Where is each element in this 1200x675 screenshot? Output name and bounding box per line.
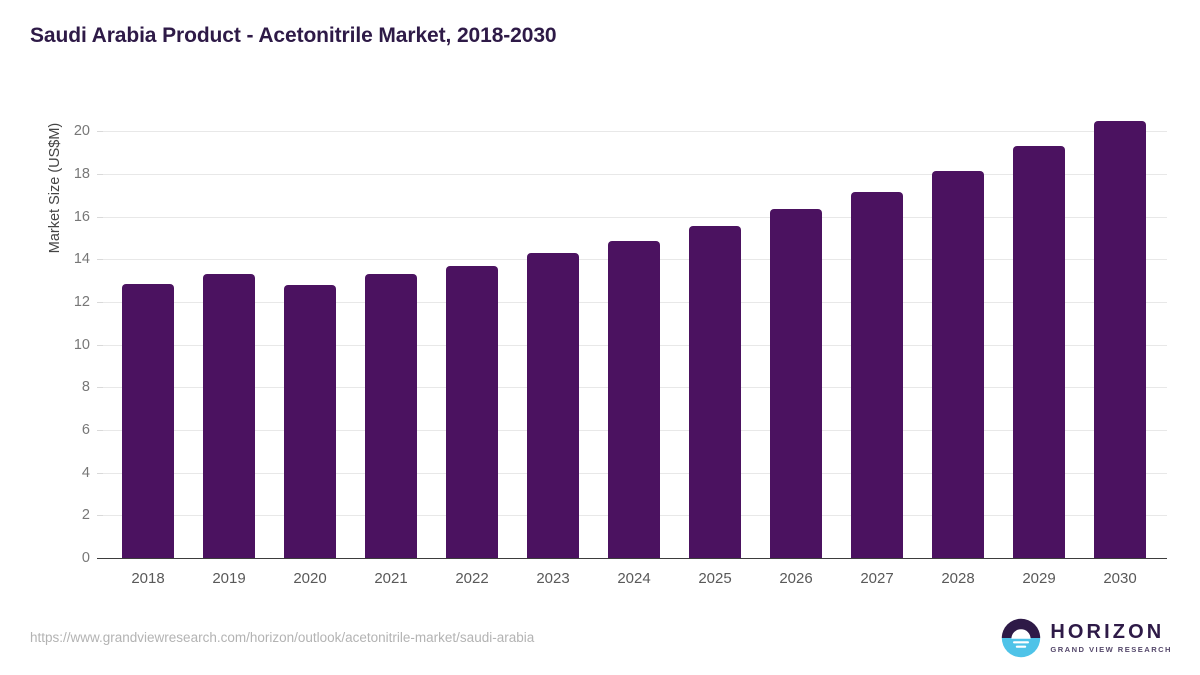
x-tick-label: 2025 (675, 570, 755, 587)
bar[interactable] (122, 284, 174, 558)
bar[interactable] (1094, 121, 1146, 558)
x-tick-label: 2022 (432, 570, 512, 587)
y-tick-label: 2 (82, 507, 90, 523)
logo-word: HORIZON (1050, 622, 1172, 642)
x-tick-label: 2024 (594, 570, 674, 587)
bar[interactable] (932, 171, 984, 558)
y-tick-label: 0 (82, 550, 90, 566)
bar[interactable] (365, 274, 417, 558)
x-tick-label: 2028 (918, 570, 998, 587)
bar[interactable] (446, 266, 498, 558)
y-tick-label: 10 (74, 337, 90, 353)
bar[interactable] (689, 226, 741, 558)
bar[interactable] (203, 274, 255, 558)
y-axis-title: Market Size (US$M) (47, 73, 63, 303)
logo-wordmark: HORIZON GRAND VIEW RESEARCH (1050, 622, 1172, 654)
chart-page: Saudi Arabia Product - Acetonitrile Mark… (0, 0, 1200, 675)
x-tick-label: 2020 (270, 570, 350, 587)
x-tick-label: 2029 (999, 570, 1079, 587)
bar[interactable] (770, 209, 822, 558)
logo-subtitle: GRAND VIEW RESEARCH (1050, 646, 1172, 654)
horizon-sunrise-icon (1001, 618, 1041, 658)
bar[interactable] (527, 253, 579, 558)
bar-series: 2018201920202021202220232024202520262027… (103, 110, 1167, 558)
x-axis-line (103, 558, 1167, 559)
x-tick-label: 2019 (189, 570, 269, 587)
x-tick-label: 2027 (837, 570, 917, 587)
plot-area: 02468101214161820 2018201920202021202220… (103, 110, 1167, 558)
x-tick-label: 2026 (756, 570, 836, 587)
bar[interactable] (851, 192, 903, 558)
y-tick-label: 4 (82, 465, 90, 481)
bar[interactable] (608, 241, 660, 558)
source-url[interactable]: https://www.grandviewresearch.com/horizo… (30, 630, 534, 645)
y-tick-label: 20 (74, 123, 90, 139)
x-tick-label: 2021 (351, 570, 431, 587)
horizon-logo: HORIZON GRAND VIEW RESEARCH (1001, 618, 1172, 658)
y-tick-label: 6 (82, 422, 90, 438)
bar[interactable] (1013, 146, 1065, 558)
y-tick-label: 12 (74, 294, 90, 310)
y-tick-label: 14 (74, 251, 90, 267)
page-title: Saudi Arabia Product - Acetonitrile Mark… (30, 24, 557, 48)
x-tick-label: 2023 (513, 570, 593, 587)
bar[interactable] (284, 285, 336, 558)
x-tick-label: 2018 (108, 570, 188, 587)
x-tick-label: 2030 (1080, 570, 1160, 587)
y-tick-label: 16 (74, 209, 90, 225)
y-tick-label: 18 (74, 166, 90, 182)
y-tick-label: 8 (82, 379, 90, 395)
y-tick-mark (97, 558, 103, 559)
